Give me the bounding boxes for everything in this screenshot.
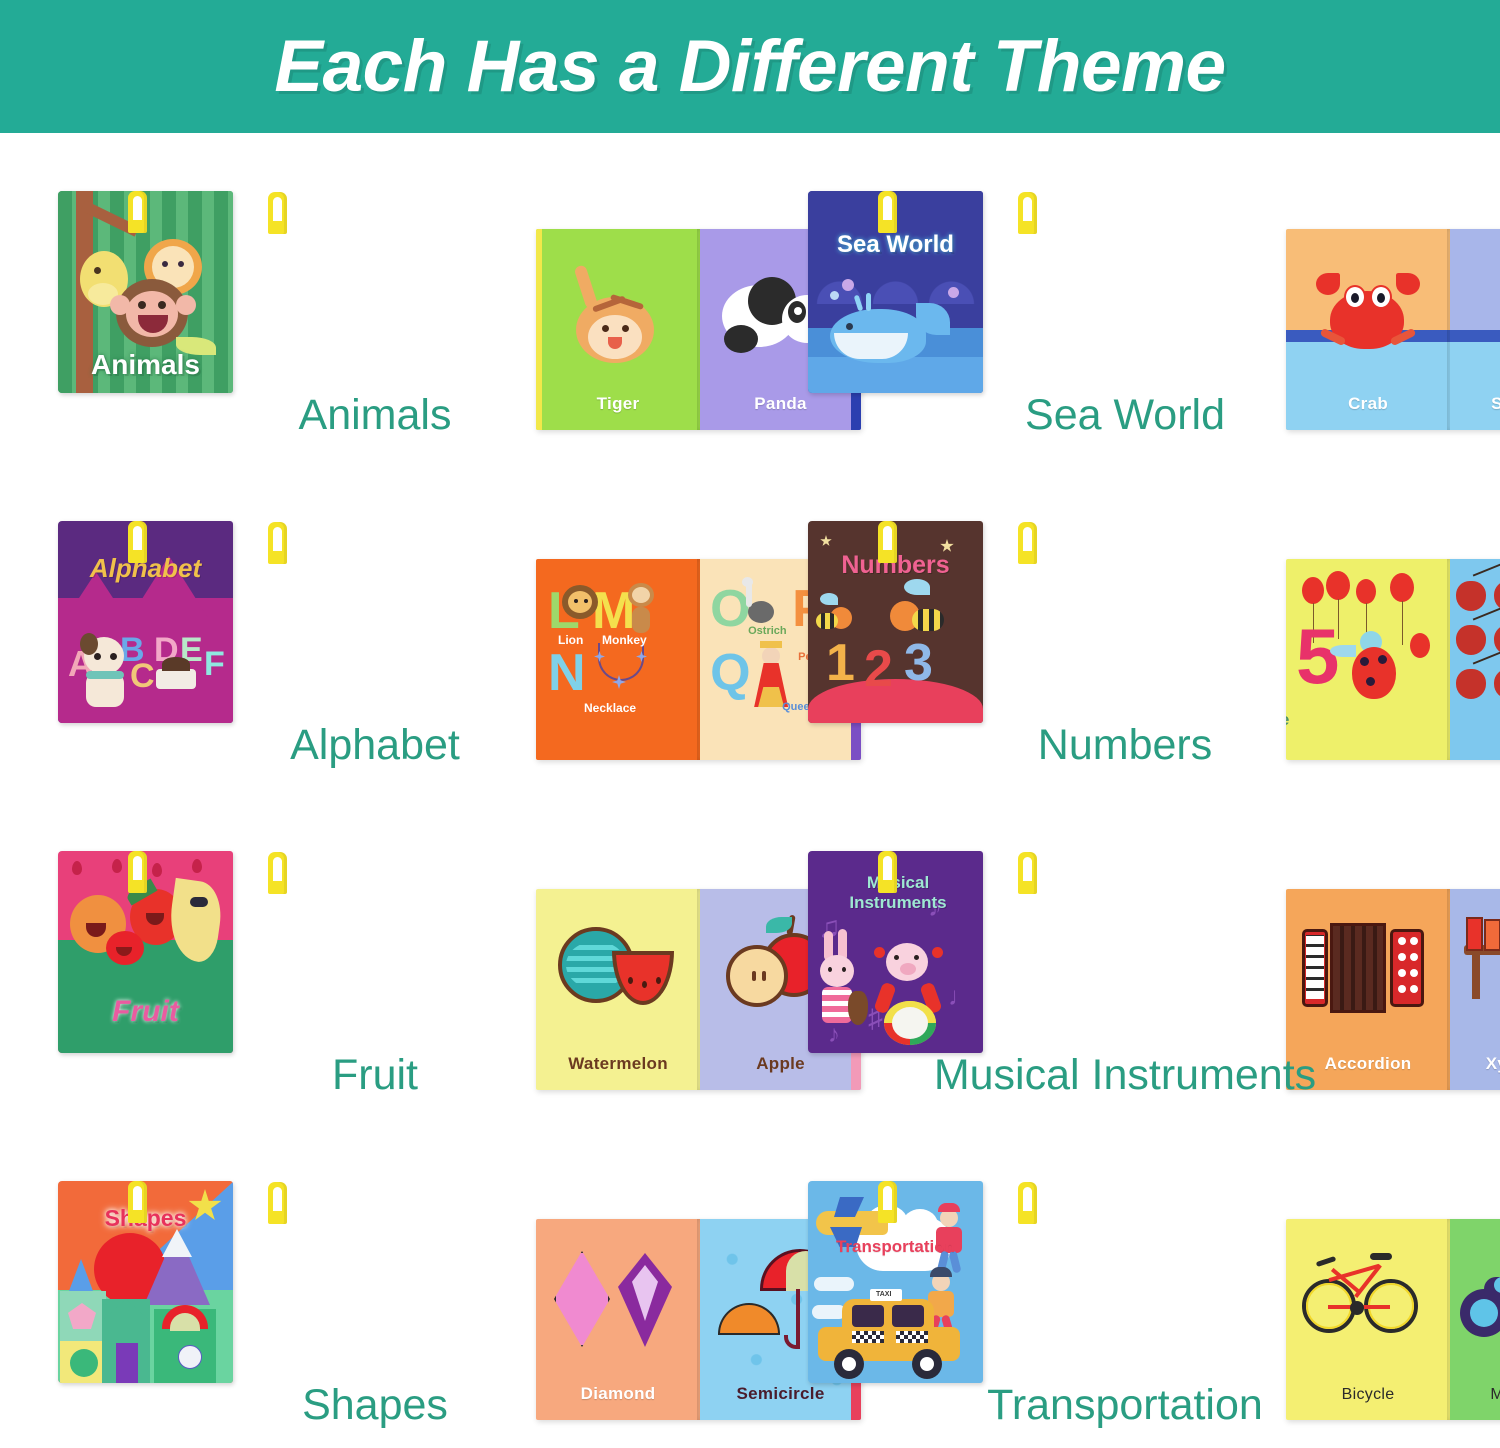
book-panel-musical-instruments[interactable]: ♫ ♪ ♯ ♩ ♪ Musical Instruments bbox=[750, 793, 1500, 1123]
closed-book-cover-shapes: Shapes bbox=[58, 1181, 233, 1383]
hanging-tab-icon bbox=[268, 1182, 287, 1224]
book-panel-sea-world[interactable]: Sea World bbox=[750, 133, 1500, 463]
closed-book-cover-musical-instruments: ♫ ♪ ♯ ♩ ♪ Musical Instruments bbox=[808, 851, 983, 1053]
hanging-tab-icon bbox=[128, 191, 147, 233]
book-panel-shapes[interactable]: Shapes Diamond bbox=[0, 1123, 750, 1448]
book-panel-transportation[interactable]: TAXI Transportation bbox=[750, 1123, 1500, 1448]
hanging-tab-icon bbox=[128, 1181, 147, 1223]
open-book-sea-world: Crab bbox=[1018, 192, 1353, 393]
open-book-alphabet: L M N bbox=[268, 522, 603, 723]
word-necklace: Necklace bbox=[584, 701, 636, 715]
hanging-tab-icon bbox=[1018, 852, 1037, 894]
cover-digit-1: 1 bbox=[826, 633, 855, 693]
word-lion: Lion bbox=[558, 633, 583, 647]
hanging-tab-icon bbox=[268, 522, 287, 564]
book-images-animals: Animals bbox=[0, 155, 750, 390]
book-caption-numbers: Numbers bbox=[750, 721, 1500, 770]
hanging-tab-icon bbox=[128, 521, 147, 563]
letter-Q: Q bbox=[710, 643, 750, 703]
page-digit-5: 5 bbox=[1296, 617, 1339, 695]
hanging-tab-icon bbox=[1018, 192, 1037, 234]
book-images-musical-instruments: ♫ ♪ ♯ ♩ ♪ Musical Instruments bbox=[750, 815, 1500, 1050]
open-book-numbers: 5 Five bbox=[1018, 522, 1353, 723]
closed-book-cover-transportation: TAXI Transportation bbox=[808, 1181, 983, 1383]
closed-book-cover-numbers: Numbers 1 2 3 bbox=[808, 521, 983, 723]
hanging-tab-icon bbox=[878, 191, 897, 233]
book-images-numbers: Numbers 1 2 3 bbox=[750, 485, 1500, 720]
closed-book-cover-alphabet: Alphabet A B C D E F bbox=[58, 521, 233, 723]
letter-O: O bbox=[710, 579, 750, 639]
open-book-animals: Tiger bbox=[268, 192, 603, 393]
book-caption-musical-instruments: Musical Instruments bbox=[750, 1051, 1500, 1100]
book-panel-fruit[interactable]: Fruit Watermelon bbox=[0, 793, 750, 1123]
cover-title-fruit: Fruit bbox=[58, 995, 233, 1029]
closed-book-cover-sea-world: Sea World bbox=[808, 191, 983, 393]
book-caption-animals: Animals bbox=[0, 391, 750, 440]
book-panel-alphabet[interactable]: Alphabet A B C D E F bbox=[0, 463, 750, 793]
book-panel-animals[interactable]: Animals bbox=[0, 133, 750, 463]
book-caption-transportation: Transportation bbox=[750, 1381, 1500, 1430]
books-grid: Animals bbox=[0, 133, 1500, 1448]
book-images-fruit: Fruit Watermelon bbox=[0, 815, 750, 1050]
open-book-fruit: Watermelon Apple bbox=[268, 852, 603, 1053]
open-book-transportation: Bicycle bbox=[1018, 1182, 1353, 1383]
hanging-tab-icon bbox=[268, 192, 287, 234]
hanging-tab-icon bbox=[878, 1181, 897, 1223]
header-banner: Each Has a Different Theme bbox=[0, 0, 1500, 133]
cover-digit-2: 2 bbox=[864, 639, 893, 699]
open-book-shapes: Diamond Semicircle bbox=[268, 1182, 603, 1383]
book-caption-fruit: Fruit bbox=[0, 1051, 750, 1100]
cover-title-musical-instruments: Musical Instruments bbox=[838, 873, 958, 912]
closed-book-cover-fruit: Fruit bbox=[58, 851, 233, 1053]
open-book-musical-instruments: Accordion bbox=[1018, 852, 1353, 1053]
hanging-tab-icon bbox=[128, 851, 147, 893]
book-images-sea-world: Sea World bbox=[750, 155, 1500, 390]
hanging-tab-icon bbox=[268, 852, 287, 894]
hanging-tab-icon bbox=[878, 851, 897, 893]
letter-N: N bbox=[548, 643, 586, 703]
book-images-alphabet: Alphabet A B C D E F bbox=[0, 485, 750, 720]
page-title: Each Has a Different Theme bbox=[274, 25, 1225, 108]
book-caption-sea-world: Sea World bbox=[750, 391, 1500, 440]
book-caption-alphabet: Alphabet bbox=[0, 721, 750, 770]
cover-digit-3: 3 bbox=[904, 633, 933, 693]
book-caption-shapes: Shapes bbox=[0, 1381, 750, 1430]
cover-title-animals: Animals bbox=[58, 349, 233, 381]
hanging-tab-icon bbox=[878, 521, 897, 563]
hanging-tab-icon bbox=[1018, 1182, 1037, 1224]
cover-title-transportation: Transportation bbox=[808, 1237, 983, 1257]
book-panel-numbers[interactable]: Numbers 1 2 3 bbox=[750, 463, 1500, 793]
book-images-transportation: TAXI Transportation bbox=[750, 1145, 1500, 1380]
product-infographic: Each Has a Different Theme bbox=[0, 0, 1500, 1448]
book-images-shapes: Shapes Diamond bbox=[0, 1145, 750, 1380]
hanging-tab-icon bbox=[1018, 522, 1037, 564]
cover-title-sea-world: Sea World bbox=[808, 231, 983, 259]
closed-book-cover-animals: Animals bbox=[58, 191, 233, 393]
word-monkey: Monkey bbox=[602, 633, 647, 647]
